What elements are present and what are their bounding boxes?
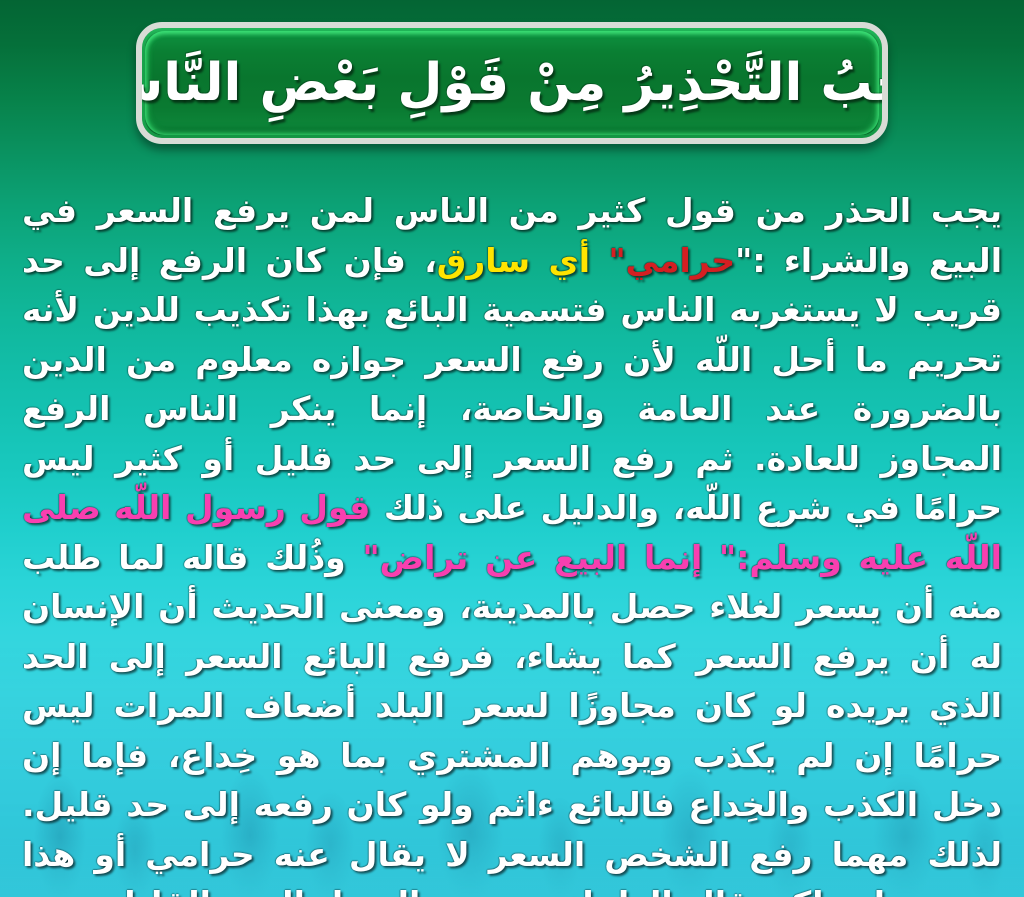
text-segment-explanation: ، فإن كان الرفع إلى حد قريب لا يستغربه ا… — [22, 241, 1002, 528]
body-text-block: يجب الحذر من قول كثير من الناس لمن يرفع … — [22, 186, 1002, 897]
title-plaque: يَجِبُ التَّحْذِيرُ مِنْ قَوْلِ بَعْضِ ا… — [136, 22, 888, 144]
title-plaque-container: يَجِبُ التَّحْذِيرُ مِنْ قَوْلِ بَعْضِ ا… — [136, 22, 888, 144]
text-segment-quote-close: " — [590, 241, 626, 280]
text-segment-ay-sariq: أي سارق — [437, 241, 590, 280]
poster-canvas: يَجِبُ التَّحْذِيرُ مِنْ قَوْلِ بَعْضِ ا… — [0, 0, 1024, 897]
body-paragraph: يجب الحذر من قول كثير من الناس لمن يرفع … — [22, 186, 1002, 897]
text-segment-conclusion: وذُلك قاله لما طلب منه أن يسعر لغلاء حصل… — [22, 538, 1002, 897]
text-segment-harami: حرامي — [626, 241, 735, 280]
page-title: يَجِبُ التَّحْذِيرُ مِنْ قَوْلِ بَعْضِ ا… — [136, 51, 888, 116]
